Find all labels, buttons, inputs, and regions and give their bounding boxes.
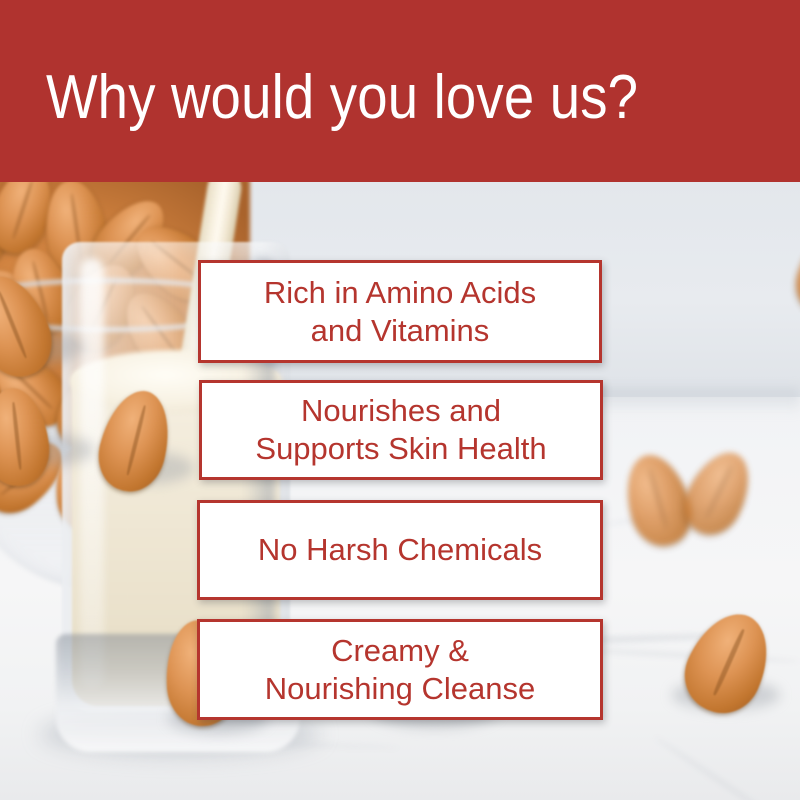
- feature-box-1[interactable]: Rich in Amino Acids and Vitamins: [198, 260, 602, 363]
- page-title: Why would you love us?: [46, 66, 638, 130]
- feature-box-3[interactable]: No Harsh Chemicals: [197, 500, 603, 600]
- poster-canvas: Why would you love us? Rich in Amino Aci…: [0, 0, 800, 800]
- feature-label-3: No Harsh Chemicals: [248, 531, 552, 569]
- feature-box-2[interactable]: Nourishes and Supports Skin Health: [199, 380, 603, 480]
- feature-box-4[interactable]: Creamy & Nourishing Cleanse: [197, 619, 603, 720]
- feature-label-4: Creamy & Nourishing Cleanse: [255, 632, 546, 708]
- header-band: Why would you love us?: [0, 0, 800, 182]
- feature-label-2: Nourishes and Supports Skin Health: [245, 392, 556, 468]
- feature-label-1: Rich in Amino Acids and Vitamins: [254, 274, 546, 350]
